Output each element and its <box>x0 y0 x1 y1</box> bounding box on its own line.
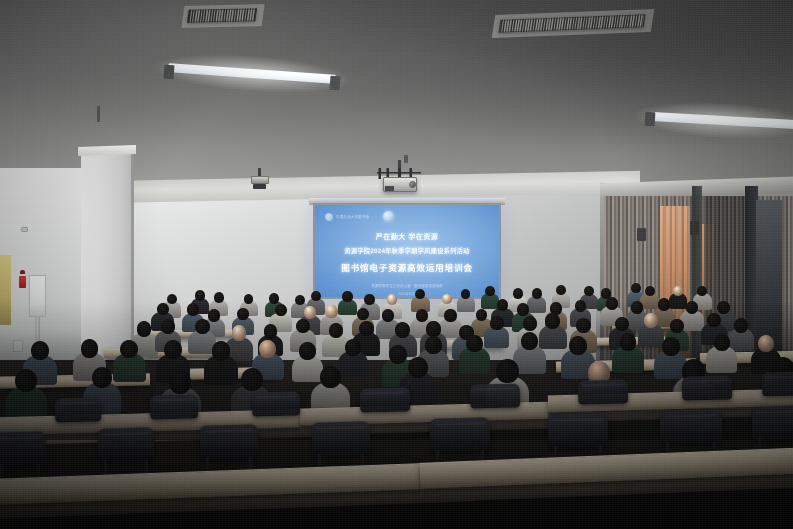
audience-member-head <box>707 313 721 328</box>
ceiling-light-1-endcap <box>164 65 175 80</box>
wall-speaker-2-icon <box>690 221 699 235</box>
audience-member-head <box>359 321 374 337</box>
audience-member-head <box>416 309 428 322</box>
projection-screen[interactable]: 中国石油大学图书馆 严在勤大 学在资源 资源学院2024年秋季学期学风建设系列活… <box>315 205 499 297</box>
audience-member-head <box>232 325 247 341</box>
audience-member-head <box>575 300 586 312</box>
audience-member-head <box>120 340 138 359</box>
audience-member-head <box>31 341 49 360</box>
audience-member-head <box>631 283 641 293</box>
audience-member-head <box>670 319 683 333</box>
audience-member-head <box>299 342 316 360</box>
audience-member-head <box>631 301 643 314</box>
audience-member-head <box>195 319 210 335</box>
audience-member-head <box>758 335 774 352</box>
audience-member-head <box>426 321 440 336</box>
door-edge-yellow <box>0 255 11 325</box>
slide-logo-text: 中国石油大学图书馆 <box>336 214 369 219</box>
wall-speaker-1-icon <box>637 228 646 241</box>
audience-member-head <box>673 286 683 296</box>
slide-line-1: 严在勤大 学在资源 <box>315 232 499 242</box>
audience-member-head <box>164 340 182 359</box>
audience-member-head <box>644 313 658 328</box>
projector-lens-icon <box>409 181 416 188</box>
audience-member-head <box>466 335 482 352</box>
chair[interactable] <box>682 375 733 400</box>
audience-member-head <box>15 369 37 392</box>
slide-logo-left: 中国石油大学图书馆 <box>325 212 371 221</box>
audience-member-head <box>556 285 566 296</box>
audience-member-head <box>686 301 699 315</box>
slide-line-3: 图书馆电子资源高效运用培训会 <box>315 262 499 274</box>
audience-member-head <box>662 337 680 356</box>
audience-member-head <box>275 304 287 317</box>
audience-member-head <box>714 334 730 351</box>
chair[interactable] <box>548 413 609 449</box>
audience-member-head <box>444 309 456 322</box>
wall-sensor-icon <box>21 227 28 232</box>
audience-member-head <box>264 324 277 338</box>
audience-member-head <box>195 290 205 300</box>
chair[interactable] <box>470 383 521 408</box>
fire-alarm-call-point[interactable] <box>19 276 26 288</box>
audience-member <box>459 335 490 379</box>
audience-member-head <box>329 323 343 338</box>
audience-member-head <box>237 308 248 320</box>
university-seal-icon <box>325 213 333 221</box>
chair[interactable] <box>150 394 199 419</box>
alarm-bell-icon <box>20 270 25 274</box>
audience-member-head <box>241 368 263 391</box>
audience-member-head <box>92 367 112 388</box>
audience-member-head <box>161 319 175 334</box>
audience-member-head <box>81 339 98 358</box>
chair[interactable] <box>430 417 491 453</box>
audience-member-head <box>620 333 637 351</box>
audience-member-head <box>645 286 655 296</box>
chair[interactable] <box>200 424 259 460</box>
chair[interactable] <box>252 391 301 416</box>
audience-member-head <box>615 317 629 332</box>
audience-member-head <box>734 318 748 333</box>
aux-projector-body <box>251 176 269 184</box>
audience-member-head <box>485 286 495 297</box>
projector-vent <box>385 186 394 191</box>
slide-badge-icon <box>383 211 394 222</box>
audience-member-head <box>569 336 587 355</box>
chair[interactable] <box>752 405 793 441</box>
audience-member-head <box>345 339 361 356</box>
audience-member-head <box>523 316 537 331</box>
audience-member-head <box>342 291 352 302</box>
ceiling-light-2-endcap <box>645 112 656 127</box>
audience-member-head <box>584 286 594 296</box>
audience-member-head <box>212 341 230 360</box>
audience-member-head <box>545 313 560 329</box>
audience-member-head <box>157 303 169 316</box>
audience-member-head <box>320 366 341 388</box>
audience-member-head <box>244 294 253 304</box>
audience-member-head <box>137 321 152 337</box>
audience-member-head <box>325 305 337 318</box>
ac-vent-left-icon <box>187 8 257 22</box>
audience-member-head <box>395 322 410 338</box>
audience-member-head <box>295 295 305 305</box>
audience-member-head <box>513 288 523 299</box>
audience-member-head <box>304 306 316 319</box>
audience-member-head <box>576 318 591 333</box>
ceiling-light-1-endcap-b <box>330 76 341 91</box>
sprinkler-head-2-icon <box>404 155 408 163</box>
audience-member-head <box>496 359 519 383</box>
chair[interactable] <box>98 427 155 463</box>
chair[interactable] <box>312 421 371 457</box>
audience-member-head <box>606 297 618 310</box>
chair[interactable] <box>660 409 723 445</box>
sprinkler-head-1-icon <box>97 106 100 122</box>
whiteboard-easel <box>29 275 46 317</box>
audience-member-head <box>442 294 452 304</box>
audience-member-head <box>517 303 529 316</box>
slide-line-2: 资源学院2024年秋季学期学风建设系列活动 <box>315 246 499 255</box>
audience-member-head <box>169 370 191 393</box>
chair[interactable] <box>578 379 629 404</box>
audience-member-head <box>425 336 442 354</box>
audience-member-head <box>415 289 425 299</box>
audience-member-head <box>521 332 539 351</box>
chair[interactable] <box>55 397 102 422</box>
audience-member-head <box>497 299 509 312</box>
audience-member-head <box>214 292 224 303</box>
audience-member-head <box>382 309 394 322</box>
audience-member-head <box>658 298 670 311</box>
audience-member-head <box>490 316 503 330</box>
lecture-hall-photo: 中国石油大学图书馆 严在勤大 学在资源 资源学院2024年秋季学期学风建设系列活… <box>0 0 793 529</box>
audience-member-head <box>259 340 276 358</box>
aux-projector-lens-icon <box>253 184 266 189</box>
chair[interactable] <box>0 431 46 466</box>
audience-member-head <box>461 289 471 299</box>
audience-member-head <box>532 288 542 299</box>
chair[interactable] <box>360 387 411 412</box>
chair[interactable] <box>762 372 793 397</box>
audience-member-head <box>269 293 279 304</box>
